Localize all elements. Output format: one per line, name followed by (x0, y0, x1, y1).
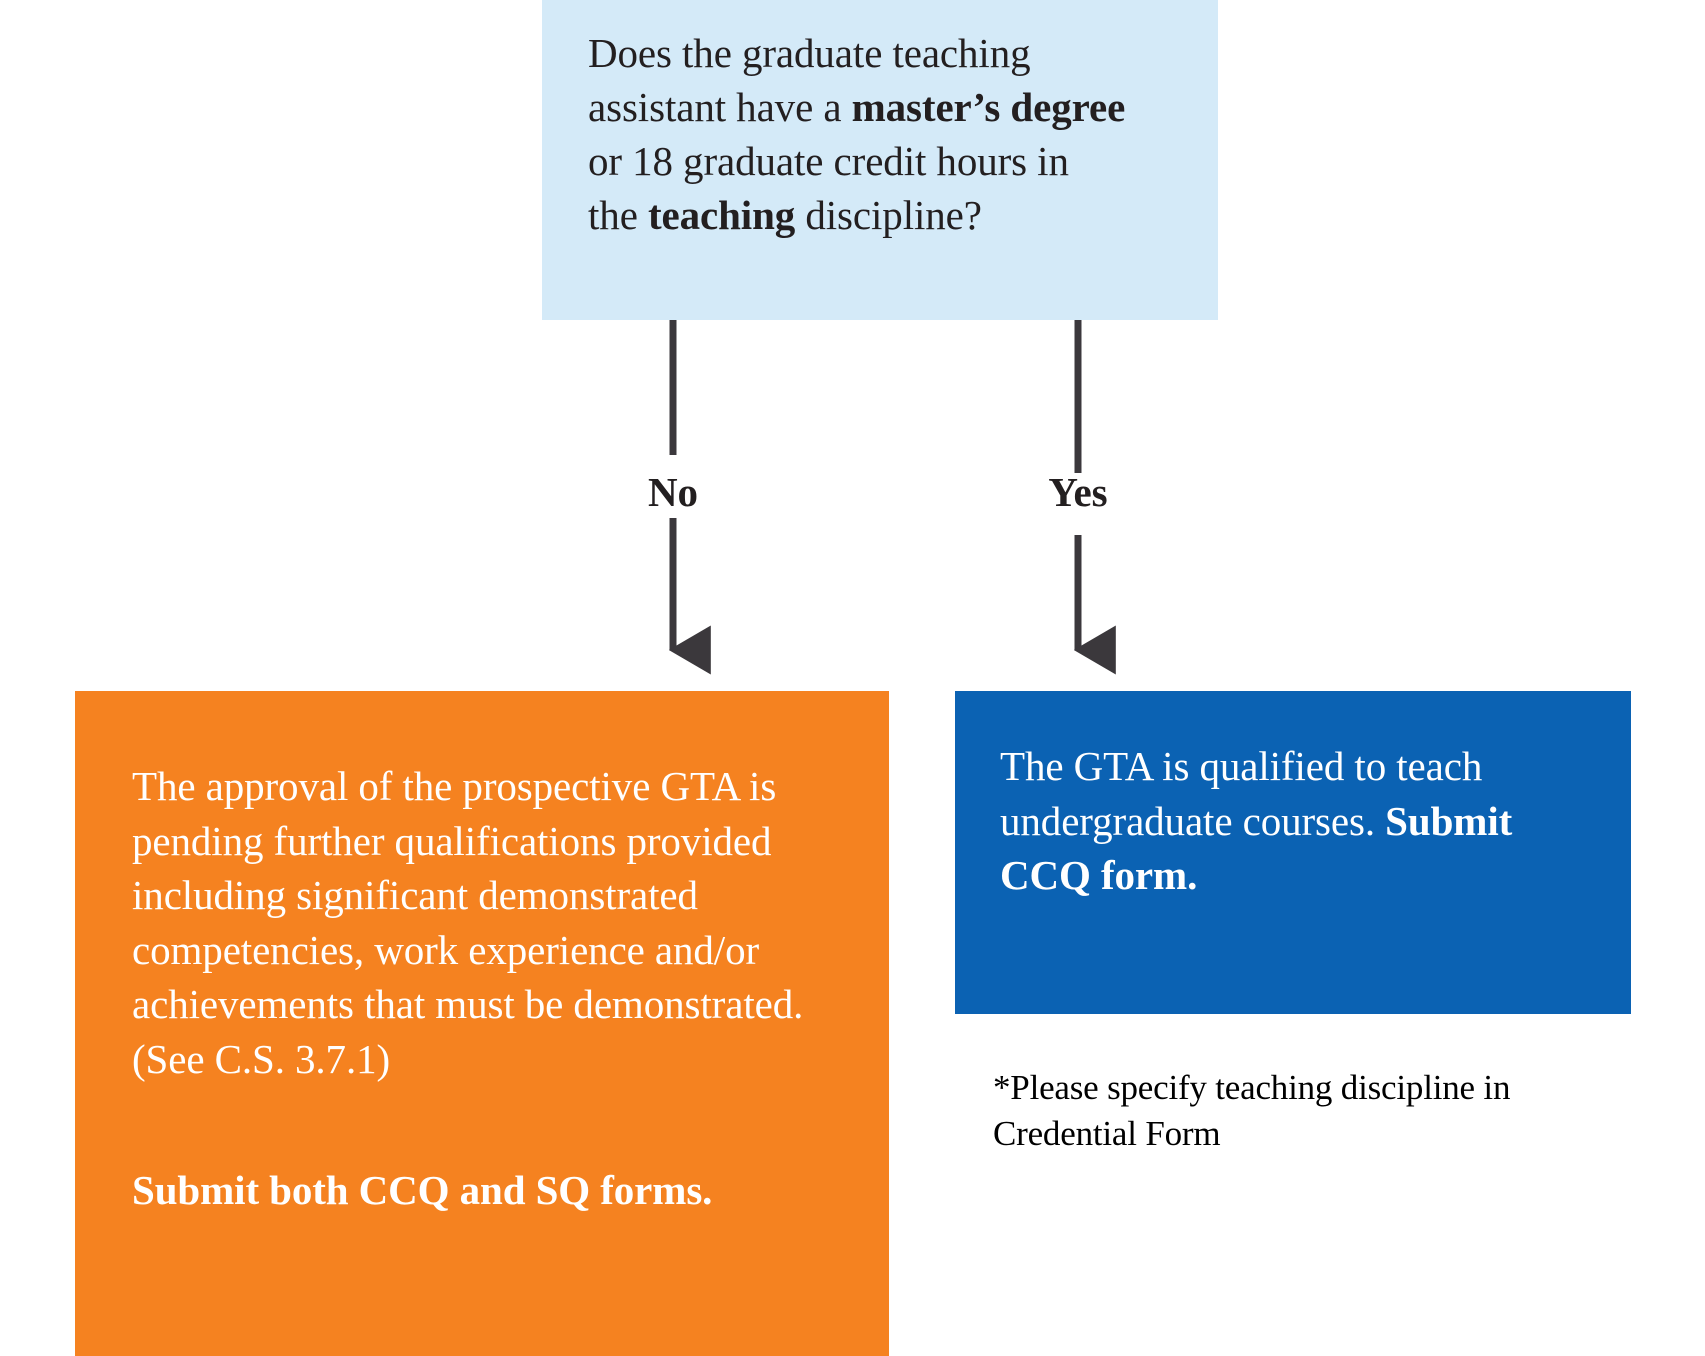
branch-label-no: No (648, 468, 698, 516)
footnote-teaching-discipline: *Please specify teaching discipline in C… (993, 1065, 1593, 1156)
flowchart-canvas: Does the graduate teaching assistant hav… (0, 0, 1705, 1350)
branch-label-yes: Yes (1048, 468, 1107, 516)
outcome-node-qualified: The GTA is qualified to teach undergradu… (955, 691, 1631, 1014)
outcome-qualified-text: The GTA is qualified to teach undergradu… (1000, 739, 1610, 903)
outcome-node-pending: The approval of the prospective GTA is p… (75, 691, 889, 1356)
outcome-pending-body: The approval of the prospective GTA is p… (132, 759, 847, 1086)
outcome-pending-emphasis: Submit both CCQ and SQ forms. (132, 1166, 862, 1214)
